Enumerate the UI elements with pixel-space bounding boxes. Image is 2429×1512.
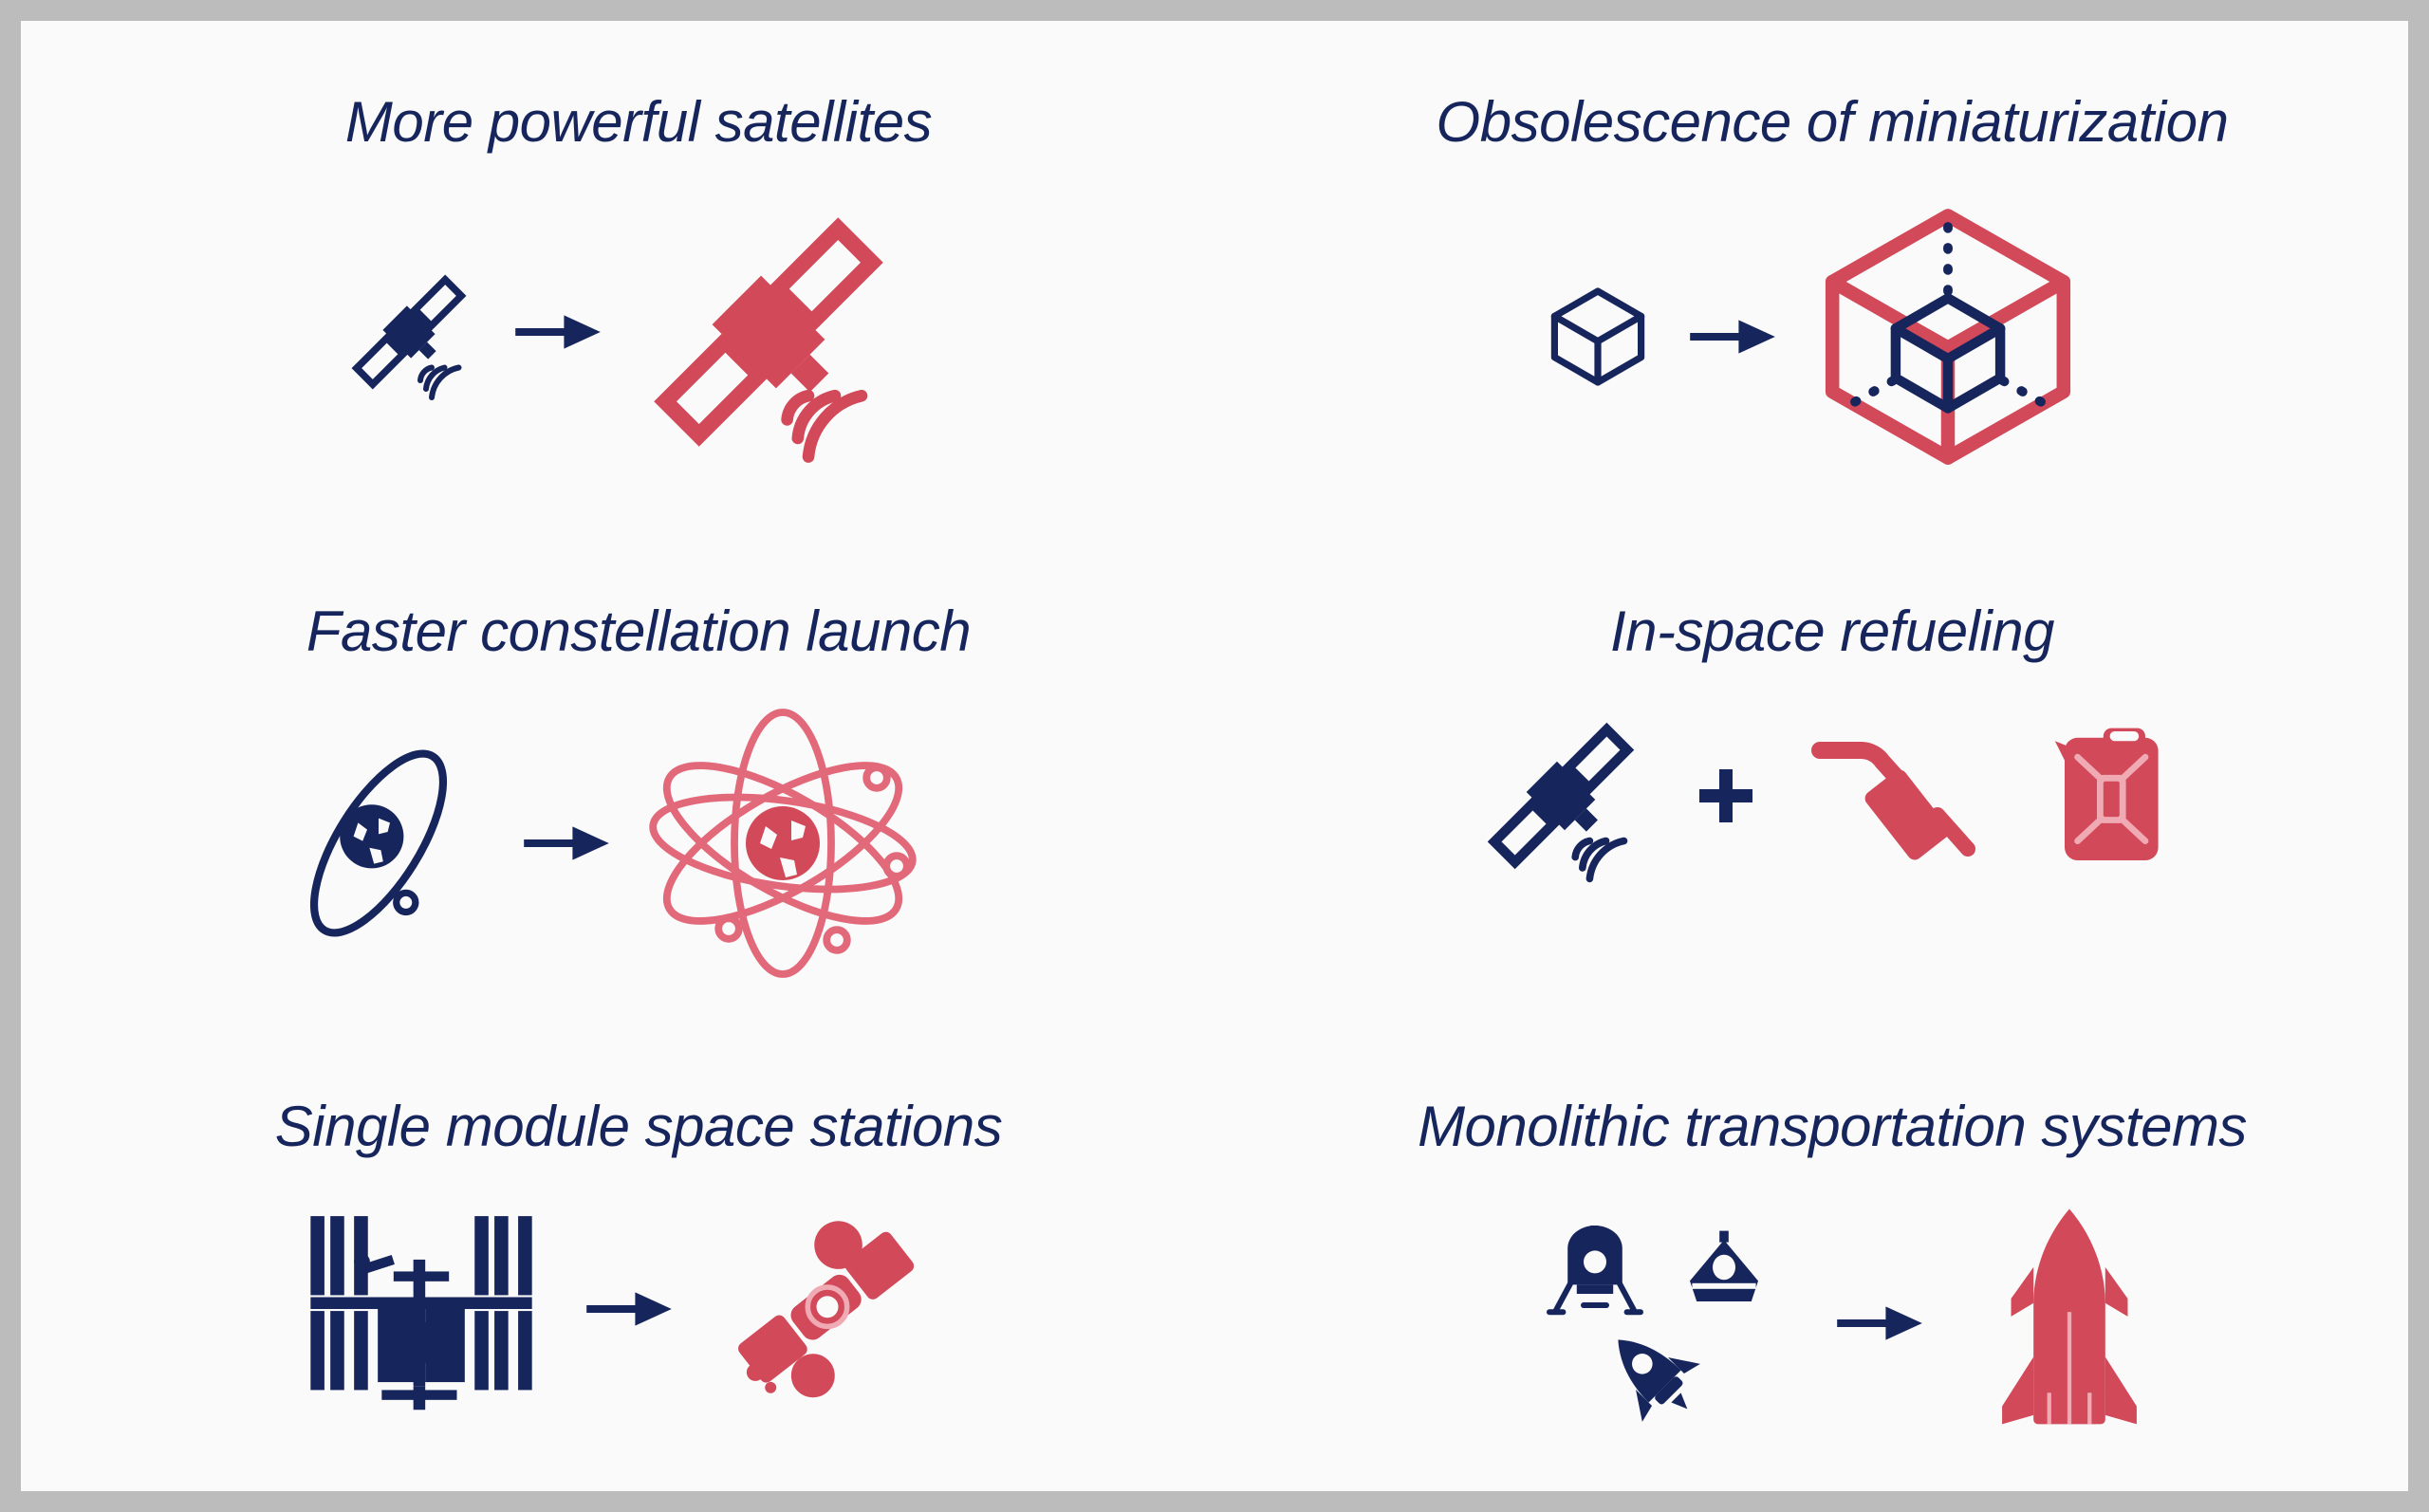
rocket-icon bbox=[1595, 1317, 1709, 1430]
small-cube-icon bbox=[1541, 280, 1655, 394]
arrow-right-icon bbox=[1834, 1295, 1925, 1352]
arrow-right-icon bbox=[584, 1281, 675, 1337]
infographic-grid: More powerful satellites bbox=[42, 42, 2429, 1512]
earth-multi-orbit-atom-icon bbox=[640, 701, 925, 986]
cell-faster-constellation-launch: Faster constellation launch bbox=[42, 532, 1235, 1023]
icon-row bbox=[1216, 199, 2410, 474]
arrow-right-icon bbox=[1687, 308, 1778, 365]
icon-row bbox=[1235, 1200, 2429, 1447]
satellite-icon bbox=[1471, 706, 1651, 886]
icon-row bbox=[0, 701, 1192, 986]
lander-capsule-rocket-group-icon bbox=[1525, 1205, 1809, 1442]
jerry-can-icon bbox=[2032, 715, 2194, 876]
icon-row bbox=[1235, 701, 2429, 891]
cell-monolithic-transportation-systems: Monolithic transportation systems bbox=[1235, 1022, 2429, 1512]
cell-single-module-space-stations: Single module space stations bbox=[42, 1022, 1235, 1512]
cell-title: More powerful satellites bbox=[345, 91, 932, 154]
large-cube-with-inner-cube-icon bbox=[1810, 199, 2086, 474]
single-module-satellite-icon bbox=[718, 1200, 936, 1418]
infographic-frame: More powerful satellites bbox=[0, 0, 2429, 1512]
arrow-right-icon bbox=[512, 304, 603, 360]
cell-title: Single module space stations bbox=[275, 1096, 1002, 1158]
arrow-right-icon bbox=[521, 815, 612, 872]
cell-obsolescence-of-miniaturization: Obsolescence of miniaturization bbox=[1235, 42, 2429, 532]
earth-single-orbit-icon bbox=[265, 729, 492, 957]
cell-title: Monolithic transportation systems bbox=[1418, 1096, 2247, 1158]
cell-in-space-refueling: In-space refueling bbox=[1235, 532, 2429, 1023]
cell-more-powerful-satellites: More powerful satellites bbox=[42, 42, 1235, 532]
icon-row bbox=[23, 199, 1216, 465]
icon-row bbox=[23, 1200, 1216, 1418]
cell-title: In-space refueling bbox=[1610, 600, 2054, 663]
space-station-iss-icon bbox=[303, 1200, 540, 1418]
plus-icon bbox=[1693, 763, 1759, 829]
cell-title: Obsolescence of miniaturization bbox=[1437, 91, 2229, 154]
fuel-nozzle-icon bbox=[1801, 701, 1991, 891]
cell-title: Faster constellation launch bbox=[306, 600, 971, 663]
small-satellite-icon bbox=[338, 261, 480, 403]
large-satellite-icon bbox=[636, 199, 901, 465]
large-rocket-icon bbox=[1975, 1200, 2164, 1447]
lunar-lander-icon bbox=[1538, 1214, 1652, 1328]
